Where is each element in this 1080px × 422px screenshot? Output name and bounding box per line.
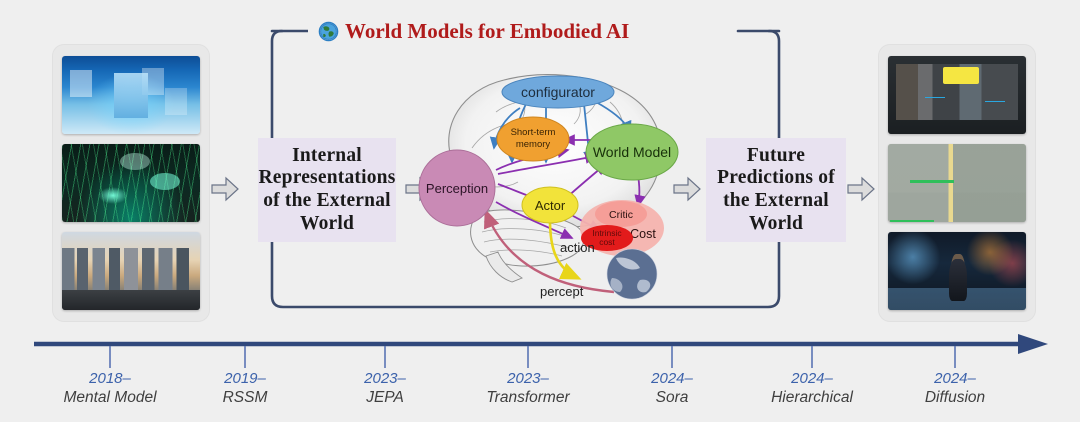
timeline-entry-4: 2024– Sora (602, 370, 742, 407)
node-short-term-memory: Short-term memory (497, 117, 569, 161)
timeline-name: Diffusion (885, 389, 1025, 407)
earth-globe-icon (607, 249, 657, 299)
timeline-entry-6: 2024– Diffusion (885, 370, 1025, 407)
future-predictions-box: Future Predictions of the External World (706, 138, 846, 242)
figure-root: World Models for Embodied AI Internal Re… (0, 0, 1080, 422)
svg-text:Short-term: Short-term (511, 127, 556, 138)
figure-title: World Models for Embodied AI (308, 16, 639, 46)
timeline-name: RSSM (175, 389, 315, 407)
edge-label-action: action (560, 240, 595, 255)
title-label: World Models for Embodied AI (345, 19, 629, 44)
timeline-name: Transformer (458, 389, 598, 407)
timeline-year: 2024– (885, 370, 1025, 387)
svg-text:Perception: Perception (426, 181, 488, 196)
timeline-year: 2024– (742, 370, 882, 387)
future-predictions-label: Future Predictions of the External World (706, 145, 846, 235)
timeline-year: 2024– (602, 370, 742, 387)
output-images-panel (878, 44, 1036, 322)
arrow-input-to-internal-icon (210, 174, 240, 204)
internal-representations-box: Internal Representations of the External… (258, 138, 396, 242)
timeline-year: 2018– (40, 370, 180, 387)
timeline-name: Mental Model (40, 389, 180, 407)
node-world-model: World Model (586, 124, 678, 180)
birdseye-trajectory-map-image (888, 144, 1026, 222)
svg-text:Actor: Actor (535, 198, 566, 213)
input-images-panel (52, 44, 210, 322)
svg-text:Critic: Critic (609, 209, 633, 221)
timeline-entry-3: 2023– Transformer (458, 370, 598, 407)
node-configurator: configurator (502, 76, 614, 108)
timeline-name: Hierarchical (742, 389, 882, 407)
timeline-entry-5: 2024– Hierarchical (742, 370, 882, 407)
timeline-entry-0: 2018– Mental Model (40, 370, 180, 407)
city-skyline-image (62, 232, 200, 310)
svg-text:memory: memory (516, 139, 551, 150)
internal-representations-label: Internal Representations of the External… (258, 145, 396, 235)
timeline-name: Sora (602, 389, 742, 407)
timeline-year: 2023– (458, 370, 598, 387)
timeline-year: 2023– (315, 370, 455, 387)
node-perception: Perception (419, 150, 495, 226)
globe-icon (318, 21, 339, 42)
node-critic: Critic (595, 201, 647, 227)
svg-text:World Model: World Model (593, 144, 671, 160)
timeline-entry-2: 2023– JEPA (315, 370, 455, 407)
edge-label-percept: percept (540, 284, 584, 299)
arrow-future-to-output-icon (846, 174, 876, 204)
brain-architecture-diagram: configurator Short-term memory World Mod… (400, 52, 700, 302)
svg-text:configurator: configurator (521, 84, 595, 100)
annotated-robot-workspace-image (888, 56, 1026, 134)
timeline-name: JEPA (315, 389, 455, 407)
svg-text:Cost: Cost (630, 227, 656, 241)
timeline-year: 2019– (175, 370, 315, 387)
svg-text:cost: cost (599, 237, 615, 247)
node-actor: Actor (522, 187, 578, 223)
rainy-neon-street-image (888, 232, 1026, 310)
timeline-entry-1: 2019– RSSM (175, 370, 315, 407)
autonomous-driving-lidar-image (62, 144, 200, 222)
smart-home-interior-image (62, 56, 200, 134)
